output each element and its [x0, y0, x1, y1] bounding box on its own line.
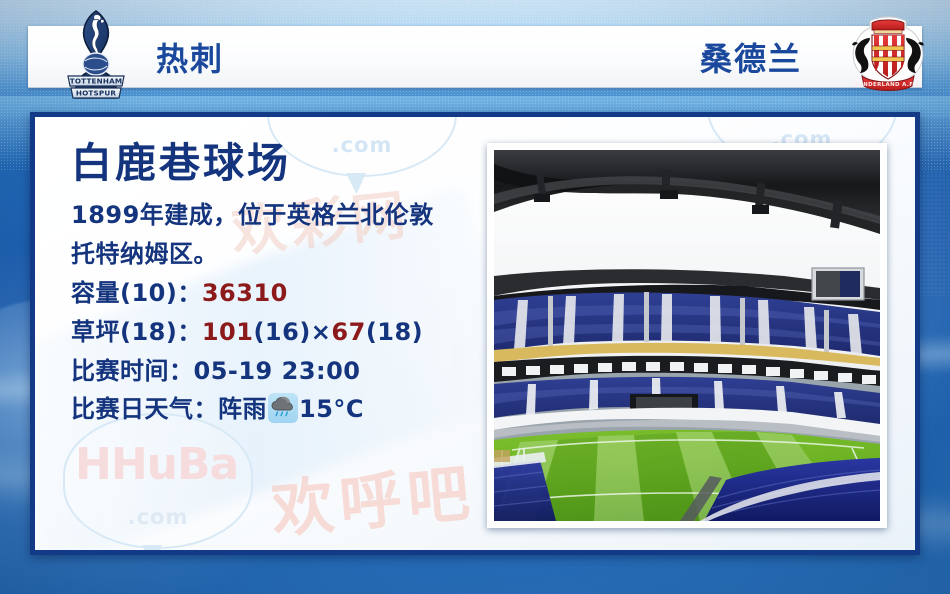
svg-text:SUNDERLAND A.F.C.: SUNDERLAND A.F.C. — [854, 82, 922, 88]
weather-temperature: 15°C — [299, 395, 364, 423]
pitch-label: 草坪(18)： — [71, 318, 202, 346]
pitch-width-value: 67 — [331, 318, 365, 346]
home-team-name: 热刺 — [156, 34, 224, 80]
stadium-info-column: 白鹿巷球场 1899年建成，位于英格兰北伦敦 托特纳姆区。 容量(10)：363… — [71, 141, 471, 429]
stadium-photo-frame — [487, 143, 887, 528]
stadium-info-panel: .com .com HHuBa .com HuBa .com 欢彩网 欢呼吧 白… — [30, 112, 920, 555]
pitch-row: 草坪(18)：101(16)×67(18) — [71, 313, 471, 352]
sunderland-afc-crest: SUNDERLAND A.F.C. — [848, 14, 928, 96]
weather-row: 比赛日天气：阵雨 15°C — [71, 390, 471, 429]
kickoff-row: 比赛时间：05-19 23:00 — [71, 352, 471, 391]
weather-condition: 阵雨 — [218, 395, 267, 423]
pitch-width-rank: (18) — [366, 318, 423, 346]
weather-label: 比赛日天气： — [71, 395, 218, 423]
pitch-separator: × — [311, 318, 332, 346]
stadium-description-line-2: 托特纳姆区。 — [71, 235, 471, 274]
stadium-photo — [494, 150, 880, 521]
kickoff-label: 比赛时间： — [71, 357, 194, 385]
shower-rain-icon — [268, 393, 298, 423]
svg-text:HOTSPUR: HOTSPUR — [76, 88, 117, 97]
stadium-description-line-1: 1899年建成，位于英格兰北伦敦 — [71, 196, 471, 235]
pitch-length-value: 101 — [202, 318, 254, 346]
tottenham-hotspur-crest: TOTTENHAM HOTSPUR — [62, 8, 130, 104]
capacity-row: 容量(10)：36310 — [71, 274, 471, 313]
capacity-label: 容量(10)： — [71, 279, 202, 307]
kickoff-value: 05-19 23:00 — [194, 357, 361, 385]
away-team-name: 桑德兰 — [700, 34, 802, 80]
pitch-length-rank: (16) — [253, 318, 310, 346]
stadium-title: 白鹿巷球场 — [71, 141, 471, 186]
svg-text:TOTTENHAM: TOTTENHAM — [70, 76, 122, 85]
match-header-bar: 热刺 桑德兰 — [28, 26, 922, 88]
capacity-value: 36310 — [202, 279, 288, 307]
